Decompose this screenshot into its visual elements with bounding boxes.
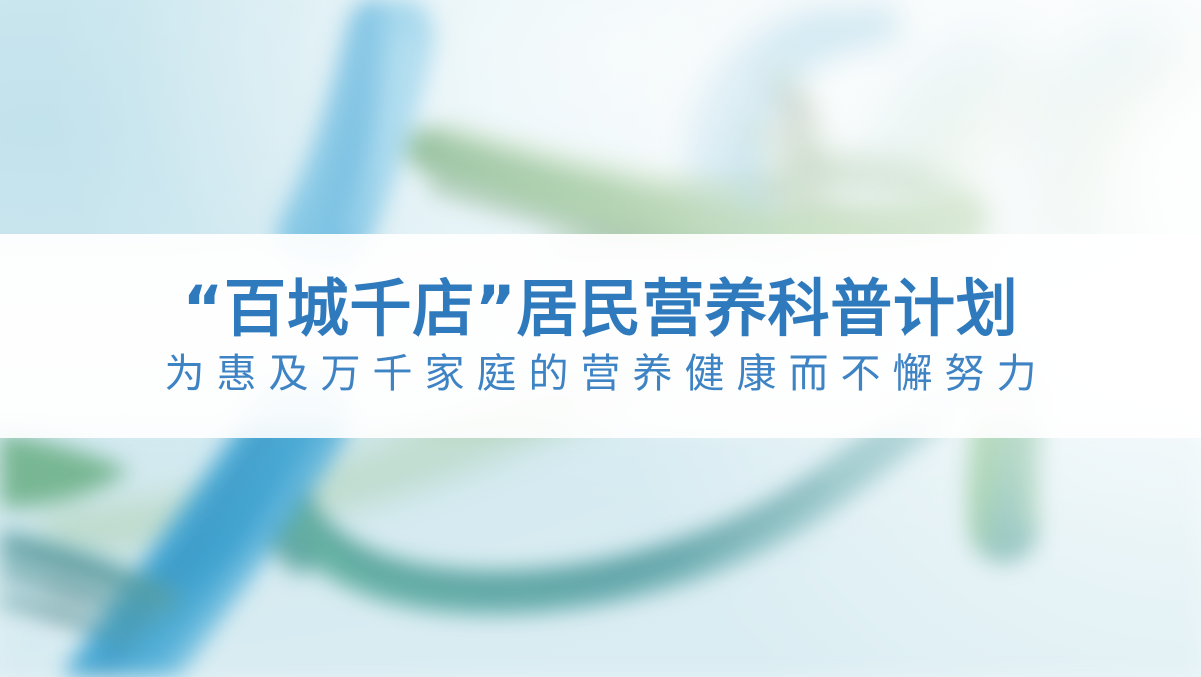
title-band: “百城千店”居民营养科普计划 为惠及万千家庭的营养健康而不懈努力	[0, 234, 1201, 438]
page-title: “百城千店”居民营养科普计划	[183, 276, 1019, 341]
page-subtitle: 为惠及万千家庭的营养健康而不懈努力	[153, 352, 1049, 396]
title-slide: “百城千店”居民营养科普计划 为惠及万千家庭的营养健康而不懈努力	[0, 0, 1201, 677]
